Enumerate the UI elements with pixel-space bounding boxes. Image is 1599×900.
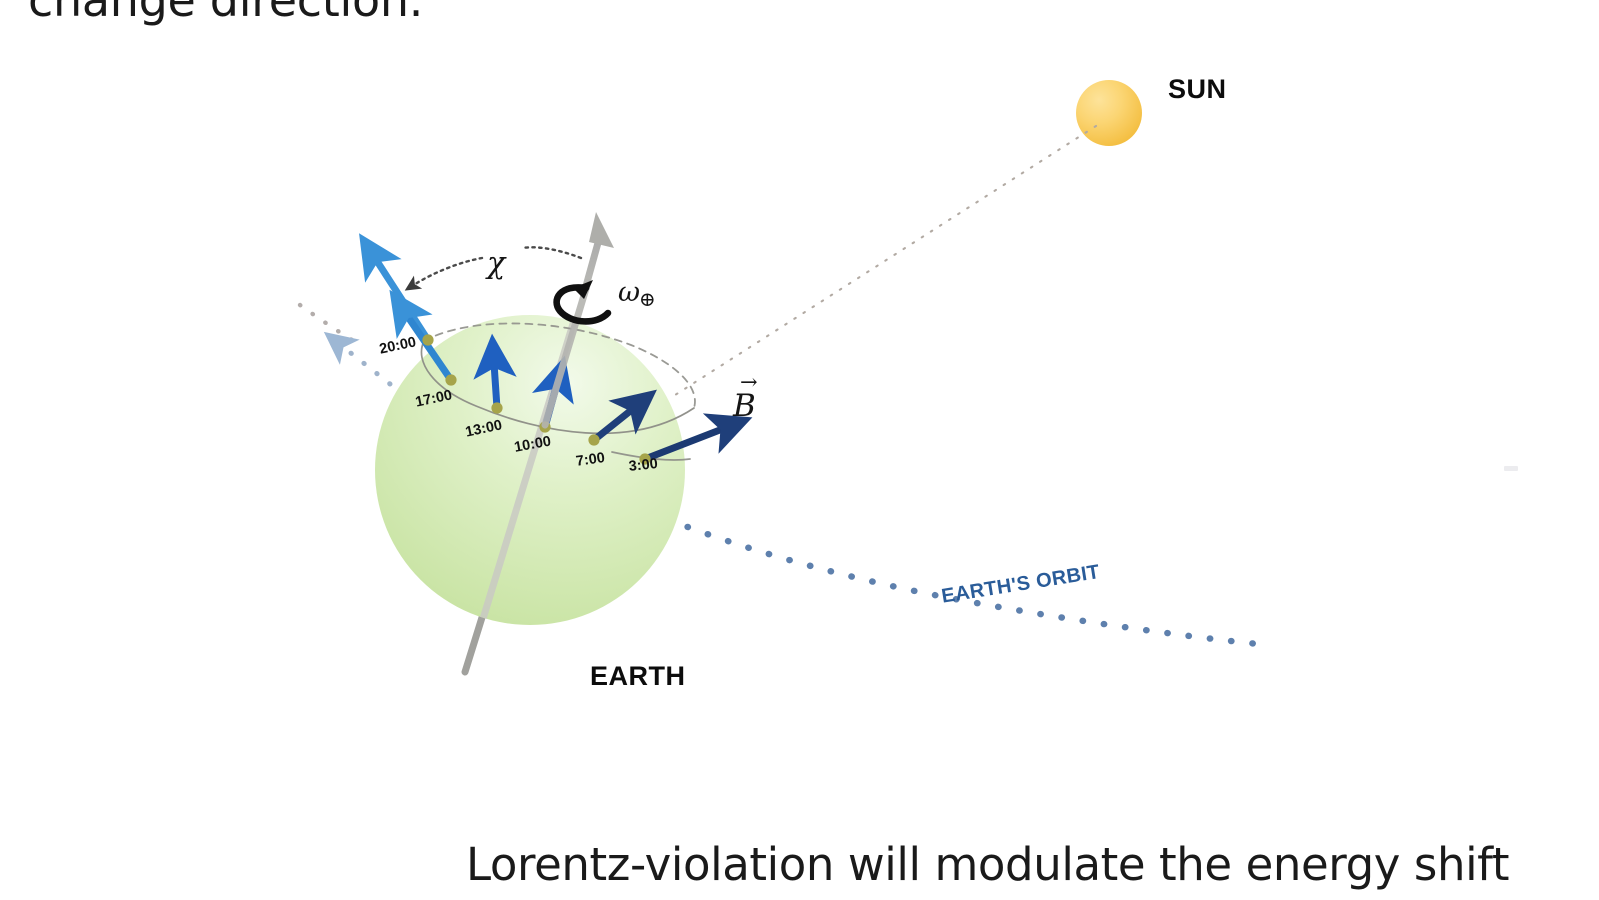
slide-text-bottom: Lorentz-violation will modulate the ener… [466, 838, 1509, 891]
omega-glyph: ω [618, 277, 640, 308]
earth-symbol-glyph: ⊕ [639, 287, 656, 311]
earth-sun-lorentz-violation-diagram [0, 0, 1599, 900]
b-field-vector-label: → B [733, 388, 756, 424]
time-point-1700 [445, 374, 456, 385]
sun-group [1076, 80, 1142, 146]
slide-canvas: change direction. [0, 0, 1599, 900]
image-artifact-mark [1504, 466, 1518, 471]
sun-to-earth-dotted-line [672, 126, 1096, 397]
sun-disc [1076, 80, 1142, 146]
earth-label: EARTH [590, 661, 686, 692]
field-arrow-2000 [375, 258, 428, 340]
time-point-0700 [588, 434, 599, 445]
chi-angle-label: χ [487, 246, 505, 281]
time-point-2000 [422, 334, 433, 345]
vector-arrow-glyph: → [740, 370, 756, 394]
axis-arrowhead [589, 212, 614, 248]
earth-orbit-dotted-curve-left [300, 305, 390, 384]
time-point-1300 [491, 402, 502, 413]
spin-arrowhead [573, 280, 593, 299]
omega-earth-label: ω⊕ [618, 277, 657, 308]
local-time-label-300: 3:00 [628, 456, 659, 475]
field-arrow-1300 [494, 363, 497, 408]
sun-label: SUN [1168, 74, 1227, 105]
